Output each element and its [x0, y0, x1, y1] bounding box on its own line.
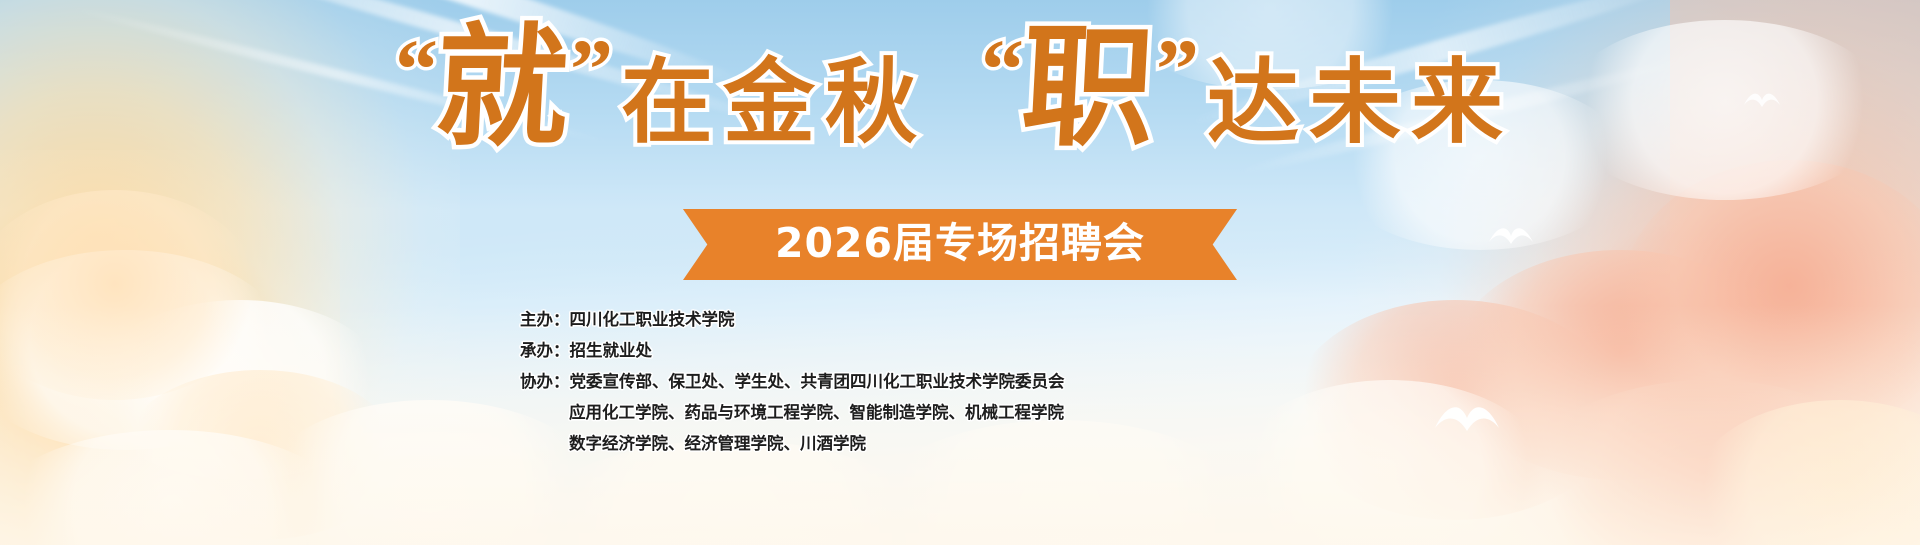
- headline-quote-close-2: ”: [1156, 26, 1195, 112]
- organizer-line-colleges-1: 应用化工学院、药品与环境工程学院、智能制造学院、机械工程学院: [520, 397, 1065, 428]
- seagull-icon: [1432, 398, 1502, 442]
- organizer-line-host: 主办：四川化工职业技术学院: [520, 304, 1065, 335]
- organizer-value-host: 四川化工职业技术学院: [570, 310, 735, 329]
- headline-word-jiu: 就: [433, 22, 572, 154]
- organizer-label-coorganizer: 协办：: [520, 372, 570, 391]
- organizer-line-organizer: 承办：招生就业处: [520, 335, 1065, 366]
- headline-quote-open-1: “: [395, 26, 434, 112]
- organizer-line-coorganizer: 协办：党委宣传部、保卫处、学生处、共青团四川化工职业技术学院委员会: [520, 366, 1065, 397]
- headline-quote-close-1: ”: [570, 26, 609, 112]
- organizer-value-colleges-1: 应用化工学院、药品与环境工程学院、智能制造学院、机械工程学院: [569, 403, 1064, 422]
- recruitment-banner: “就”在金秋“职”达未来 2026届专场招聘会 主办：四川化工职业技术学院 承办…: [0, 0, 1920, 545]
- organizer-value-coorganizer: 党委宣传部、保卫处、学生处、共青团四川化工职业技术学院委员会: [570, 372, 1065, 391]
- organizer-label-host: 主办：: [520, 310, 570, 329]
- headline-quote-open-2: “: [981, 26, 1020, 112]
- organizer-label-organizer: 承办：: [520, 341, 570, 360]
- headline-word-zhi: 职: [1019, 22, 1158, 154]
- headline-phrase-daweilai: 达未来: [1207, 56, 1513, 148]
- organizer-line-colleges-2: 数字经济学院、经济管理学院、川酒学院: [520, 428, 1065, 459]
- organizer-value-organizer: 招生就业处: [570, 341, 653, 360]
- ribbon-banner: 2026届专场招聘会: [0, 209, 1920, 280]
- ribbon-title: 2026届专场招聘会: [775, 219, 1145, 267]
- headline-phrase-zaijinqiu: 在金秋: [621, 56, 927, 148]
- organizer-value-colleges-2: 数字经济学院、经济管理学院、川酒学院: [569, 434, 866, 453]
- headline: “就”在金秋“职”达未来: [0, 4, 1920, 154]
- organizer-info: 主办：四川化工职业技术学院 承办：招生就业处 协办：党委宣传部、保卫处、学生处、…: [520, 304, 1065, 459]
- ribbon-shape: 2026届专场招聘会: [683, 209, 1237, 280]
